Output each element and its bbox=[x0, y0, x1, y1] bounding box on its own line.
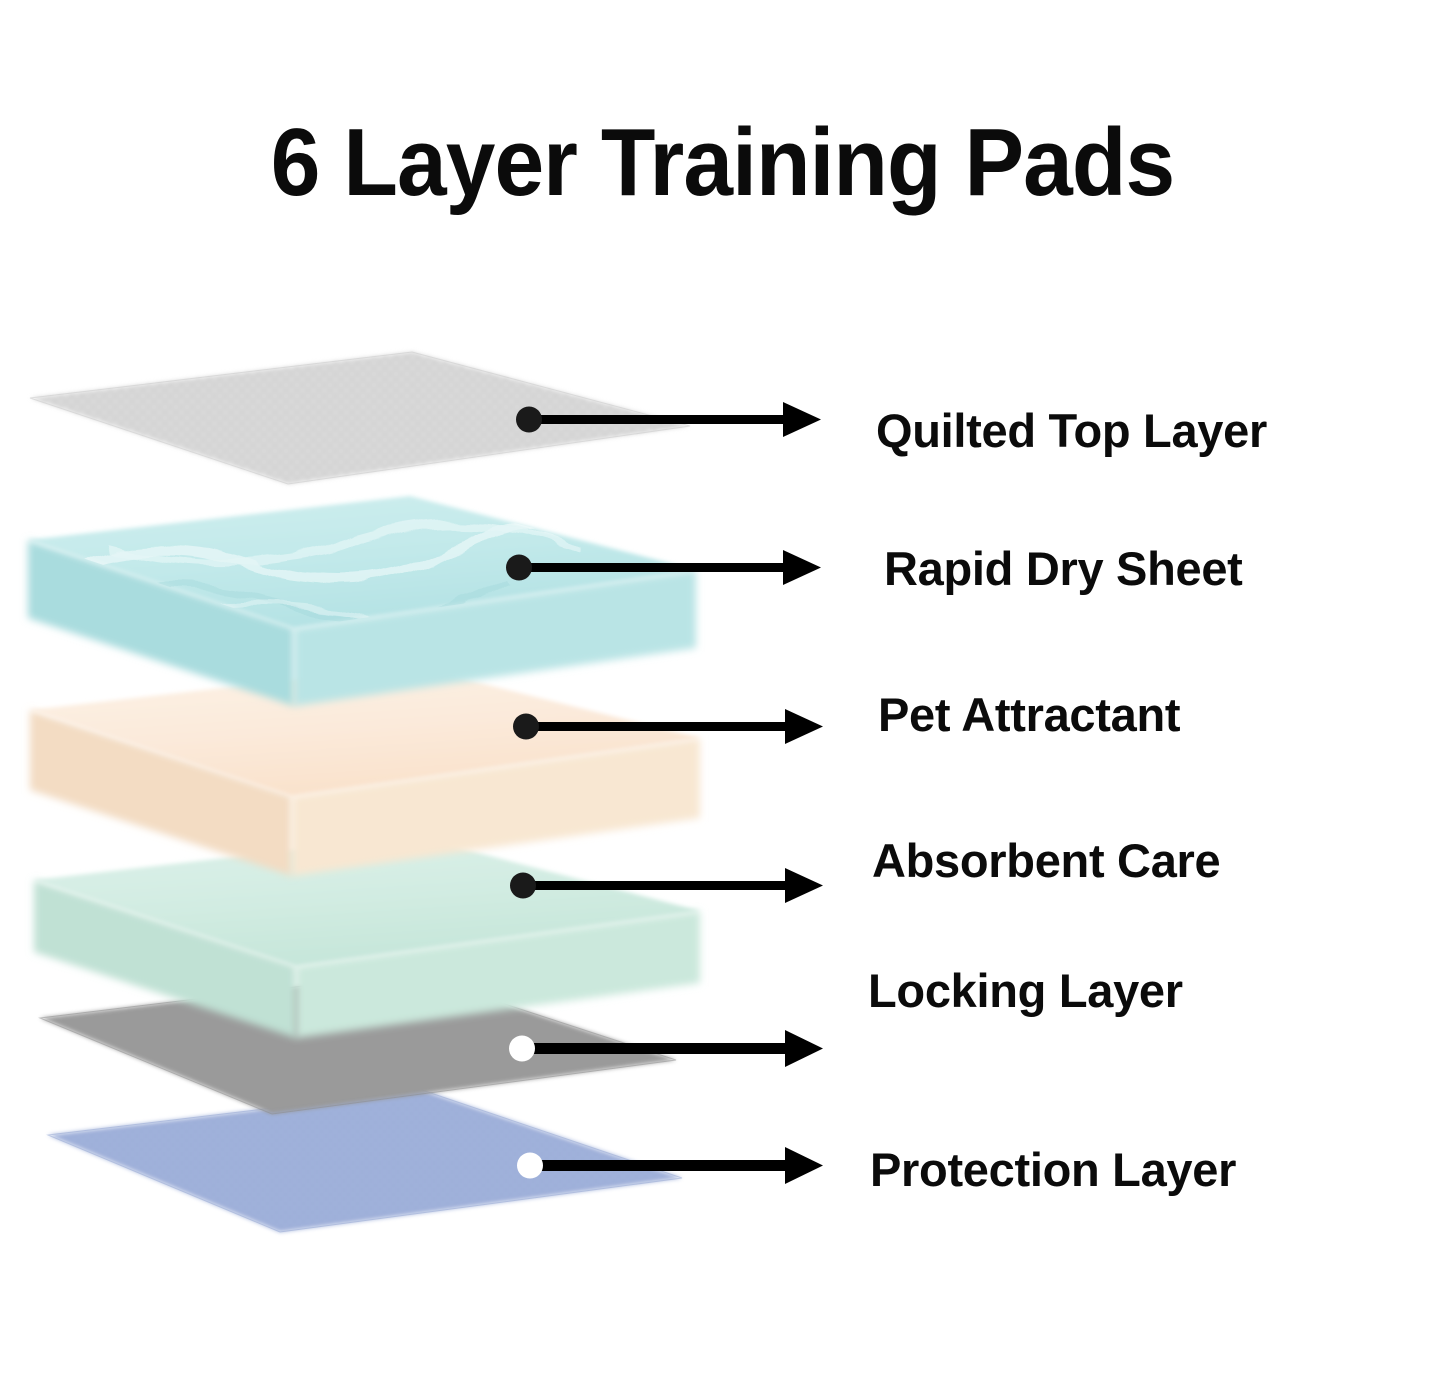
layer-label-absorbent-care: Absorbent Care bbox=[872, 835, 1220, 887]
layer-label-protection: Protection Layer bbox=[870, 1144, 1236, 1196]
layer-label-quilted-top: Quilted Top Layer bbox=[876, 405, 1267, 457]
layer-label-locking: Locking Layer bbox=[868, 965, 1183, 1017]
layer-stack-illustration bbox=[0, 330, 760, 1330]
layer-label-rapid-dry: Rapid Dry Sheet bbox=[884, 543, 1243, 595]
layer-shape-rapid-dry bbox=[28, 496, 696, 706]
layer-label-pet-attractant: Pet Attractant bbox=[878, 689, 1180, 741]
layer-shape-pet-attractant bbox=[30, 666, 700, 876]
page-title: 6 Layer Training Pads bbox=[51, 108, 1395, 218]
infographic-canvas: 6 Layer Training Pads bbox=[0, 0, 1445, 1385]
